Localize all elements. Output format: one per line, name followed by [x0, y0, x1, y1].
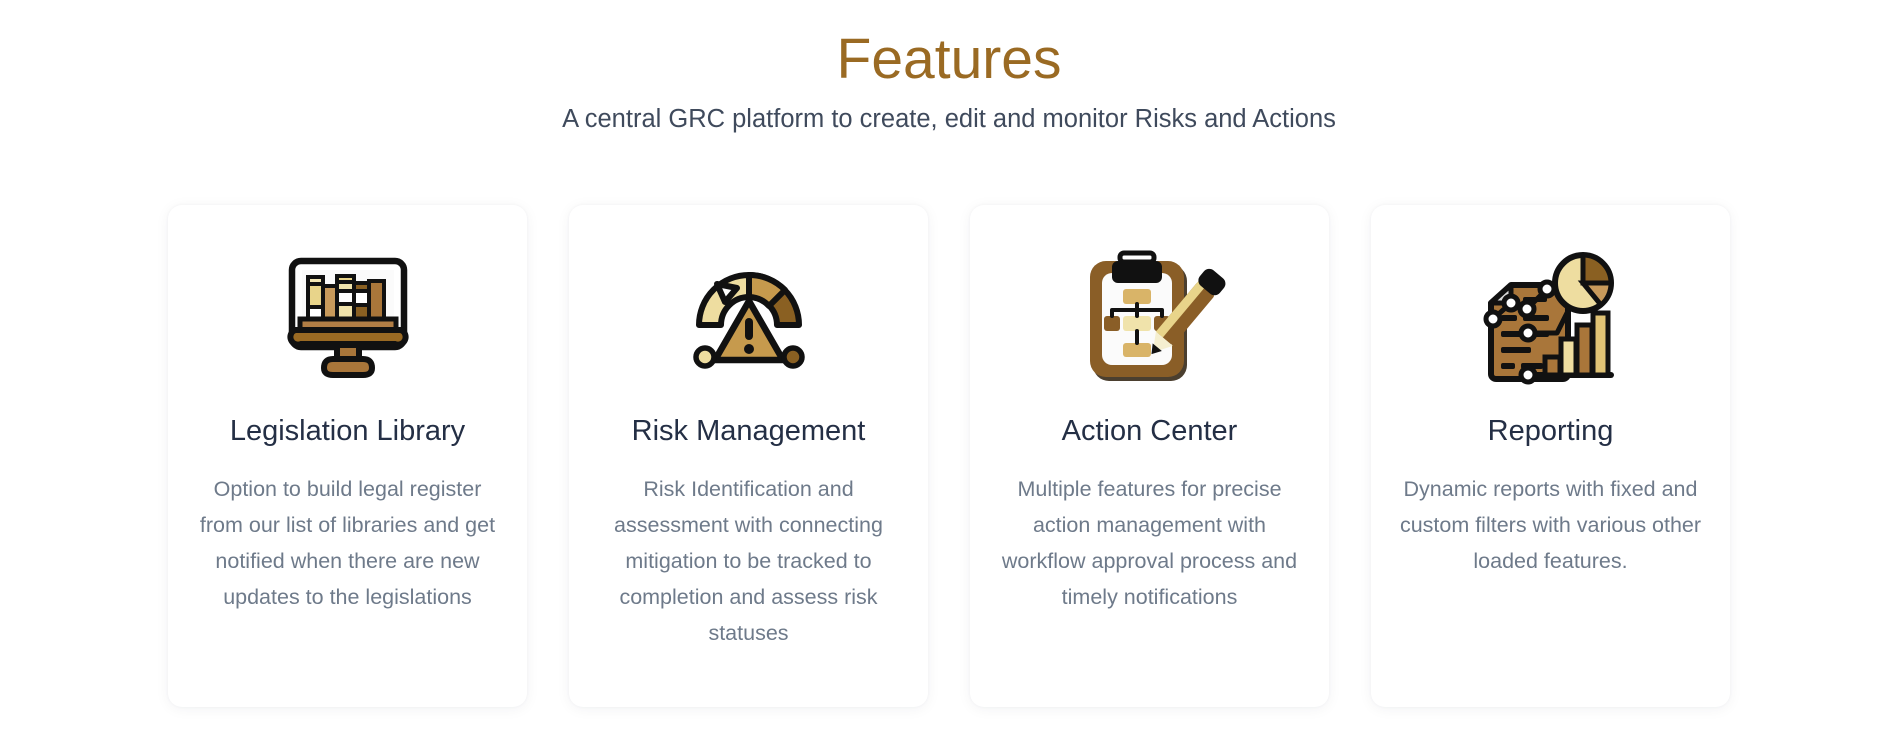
- clipboard-workflow-pencil-icon: [1070, 239, 1230, 399]
- card-title: Risk Management: [632, 413, 866, 449]
- card-title: Reporting: [1488, 413, 1614, 449]
- page-header: Features A central GRC platform to creat…: [0, 26, 1898, 135]
- card-title: Action Center: [1062, 413, 1238, 449]
- card-body: Risk Identification and assessment with …: [596, 471, 902, 651]
- feature-card-action-center[interactable]: Action Center Multiple features for prec…: [970, 205, 1329, 707]
- card-body: Dynamic reports with fixed and custom fi…: [1398, 471, 1704, 579]
- feature-card-reporting[interactable]: Reporting Dynamic reports with fixed and…: [1371, 205, 1730, 707]
- page-subtitle: A central GRC platform to create, edit a…: [0, 103, 1898, 135]
- features-page: Features A central GRC platform to creat…: [0, 0, 1898, 735]
- monitor-books-icon: [268, 239, 428, 399]
- card-title: Legislation Library: [230, 413, 465, 449]
- page-title: Features: [0, 26, 1898, 92]
- risk-gauge-warning-icon: [669, 239, 829, 399]
- feature-card-legislation-library[interactable]: Legislation Library Option to build lega…: [168, 205, 527, 707]
- report-charts-icon: [1471, 239, 1631, 399]
- feature-card-risk-management[interactable]: Risk Management Risk Identification and …: [569, 205, 928, 707]
- card-body: Option to build legal register from our …: [195, 471, 501, 615]
- feature-cards-row: Legislation Library Option to build lega…: [168, 205, 1730, 707]
- card-body: Multiple features for precise action man…: [997, 471, 1303, 615]
